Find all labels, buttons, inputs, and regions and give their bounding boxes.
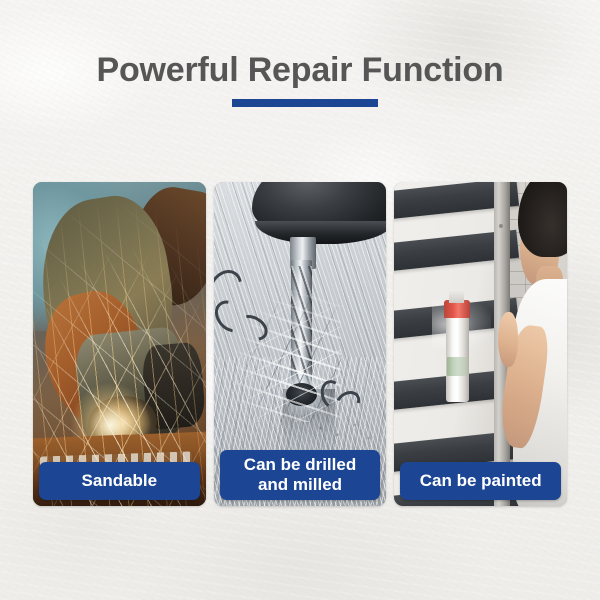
promo-graphic: Powerful Repair Function Sandable [0, 0, 600, 600]
feature-card-painted[interactable]: Can be painted [394, 182, 567, 506]
person-hand [498, 312, 518, 367]
caption-drilled-milled: Can be drilled and milled [220, 450, 381, 500]
sparks-layer-secondary [33, 182, 206, 506]
caption-drilled-milled-line1: Can be drilled [244, 455, 356, 474]
person-figure [501, 182, 567, 506]
title-underline-rule [232, 99, 378, 107]
caption-drilled-milled-line2: and milled [224, 475, 377, 495]
feature-card-sandable[interactable]: Sandable [33, 182, 206, 506]
caption-painted: Can be painted [400, 462, 561, 500]
photo-angle-grinder [33, 182, 206, 506]
feature-card-drilled-milled[interactable]: Can be drilled and milled [214, 182, 387, 506]
spray-can-label [447, 357, 468, 376]
caption-sandable: Sandable [39, 462, 200, 500]
surface-speckles [314, 415, 376, 447]
caption-painted-line1: Can be painted [420, 471, 542, 490]
spray-can-nozzle [449, 289, 465, 304]
feature-card-row: Sandable [33, 182, 567, 506]
photo-spray-painting [394, 182, 567, 506]
person-hair [518, 182, 567, 257]
page-title: Powerful Repair Function [0, 49, 600, 91]
caption-sandable-line1: Sandable [82, 471, 158, 490]
